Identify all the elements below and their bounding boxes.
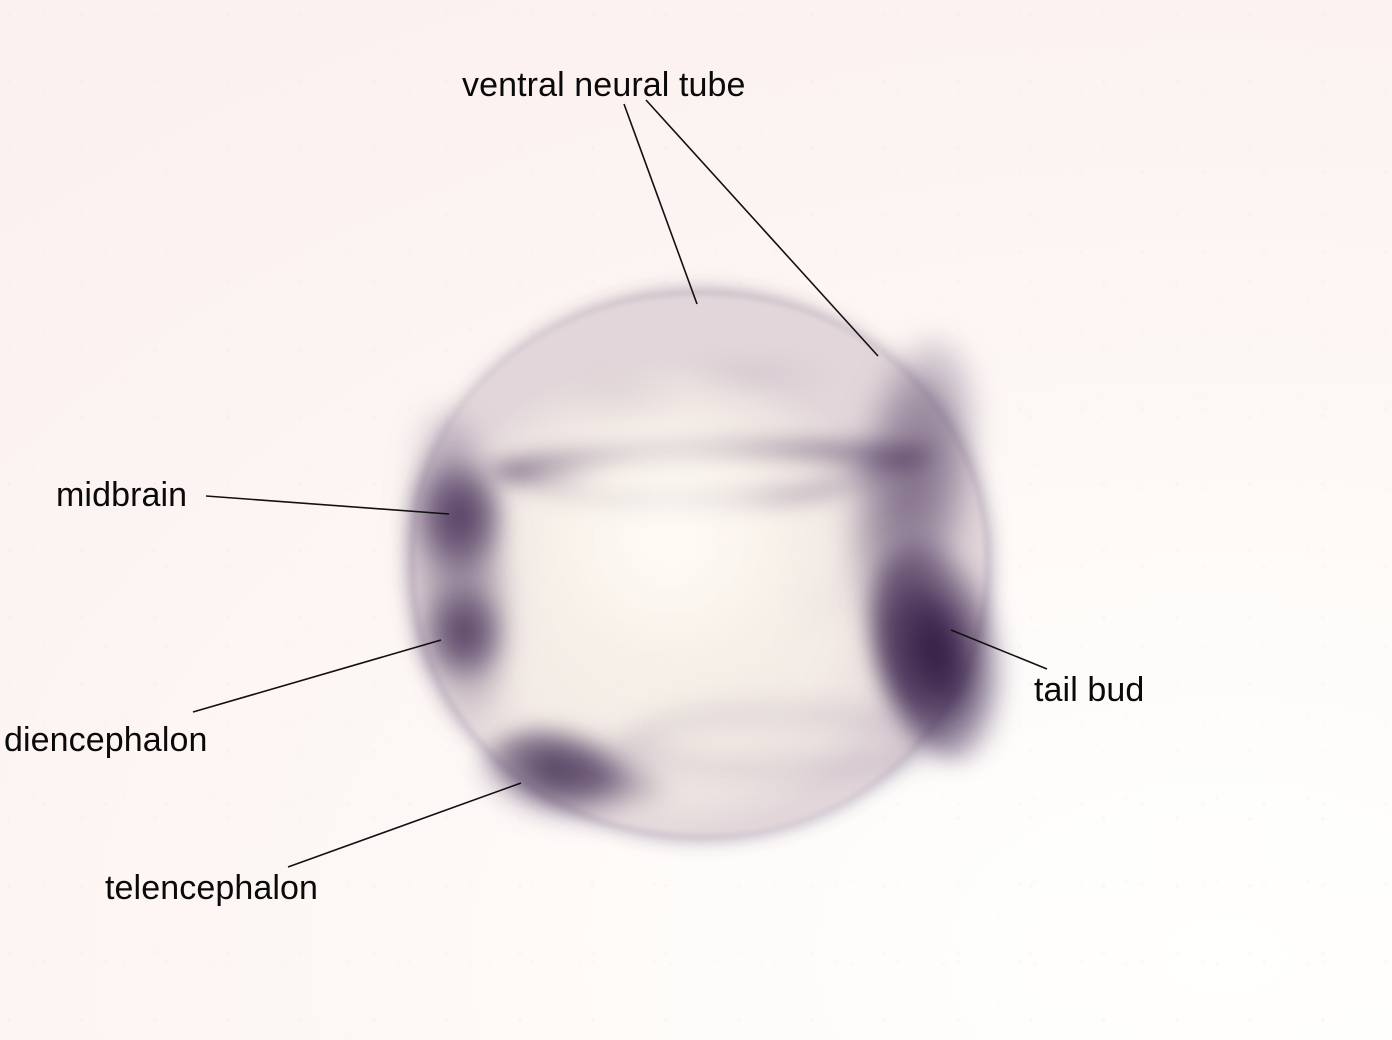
embryo-specimen [402,284,998,846]
label-midbrain: midbrain [56,478,187,512]
labeled-micrograph-figure: ventral neural tube midbrain diencephalo… [0,0,1392,1040]
yolk-highlight [498,370,888,750]
label-ventral-neural-tube: ventral neural tube [462,68,746,102]
label-tail-bud: tail bud [1034,673,1144,707]
label-diencephalon: diencephalon [4,723,208,757]
label-telencephalon: telencephalon [105,871,318,905]
